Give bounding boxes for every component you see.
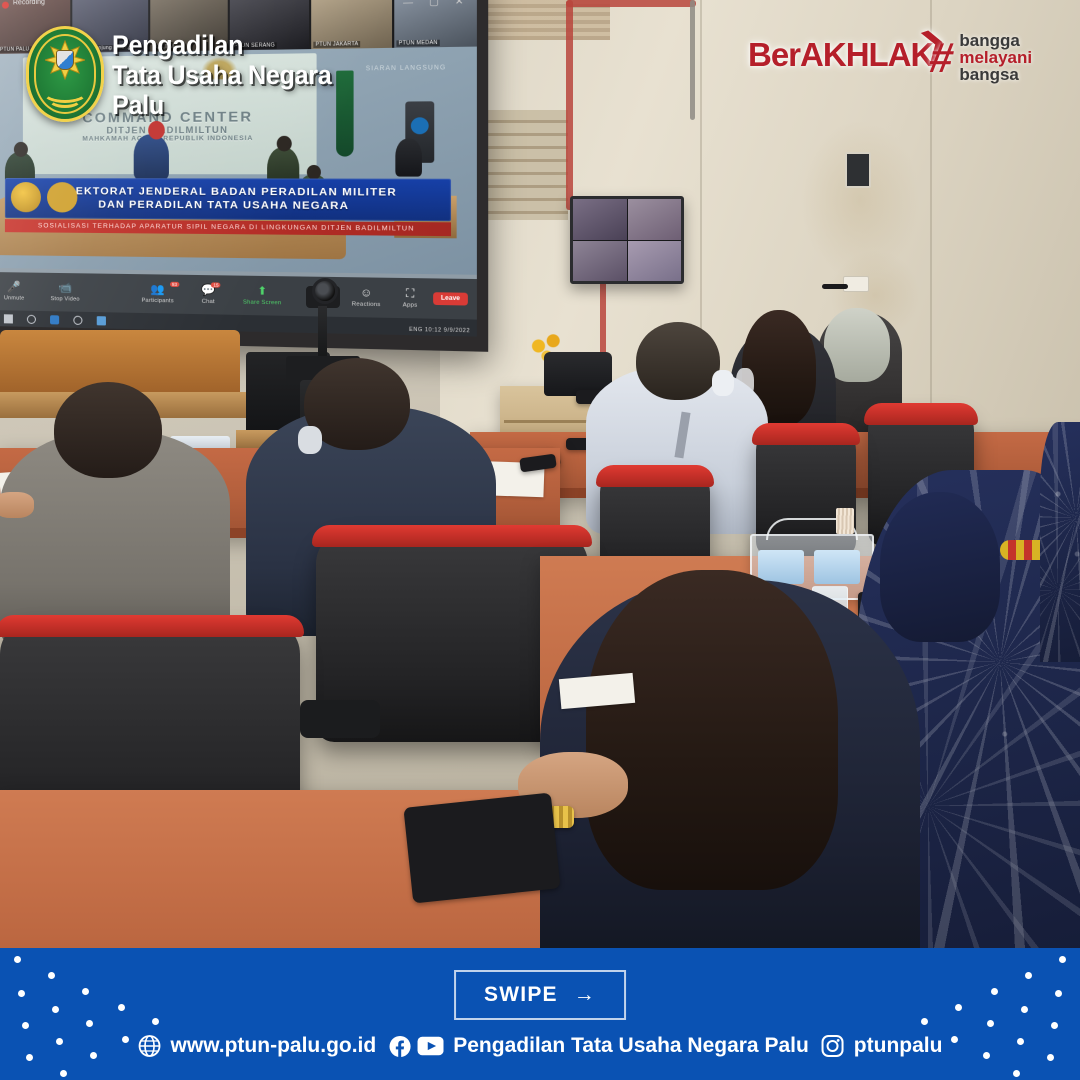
search-icon[interactable] [27,314,36,323]
zoom-thumbnail-label: PTUN MEDAN [396,40,439,47]
camera-post [318,306,327,358]
system-tray: ENG 10:12 9/9/2022 [409,327,470,335]
title-line-3: Palu [112,90,331,120]
water-cup-packed [758,550,804,584]
remote-participant [396,138,423,176]
seal-crescent-icon [48,90,82,108]
attendee-long-hair-foreground [540,580,920,948]
attendee-hand [0,492,34,518]
zoom-button-label: Apps [403,302,418,309]
participants-icon: 👥 [151,284,165,295]
instagram-link[interactable]: ptunpalu [821,1034,943,1058]
wall-conduit [690,0,695,120]
cctv-quad-monitor [570,196,684,284]
seal-shield-icon [56,50,74,70]
siaran-langsung-label: SIARAN LANGSUNG [366,65,447,72]
recording-label: Recording [13,0,45,7]
facebook-icon [388,1035,411,1058]
wall-conduit [566,0,696,7]
hashtag-icon: # [927,41,956,75]
cctv-quadrant [573,241,627,282]
event-banner: DIREKTORAT JENDERAL BADAN PERADILAN MILI… [5,178,451,221]
file-explorer-icon[interactable] [97,316,106,325]
dot-pattern-left [0,948,150,1080]
arrow-right-icon: → [574,983,596,1007]
green-flag [336,71,353,157]
social-page-link[interactable]: Pengadilan Tata Usaha Negara Palu [388,1034,809,1058]
zoom-button-label: Stop Video [51,296,80,303]
bangga-line-2: melayani [959,49,1032,66]
website-url: www.ptun-palu.go.id [171,1034,377,1058]
zoom-participants-button[interactable]: 👥 93 Participants [142,284,174,304]
zoom-reactions-button[interactable]: ☺ Reactions [352,287,381,307]
title-line-1: Pengadilan [112,30,331,60]
gear-icon[interactable] [73,315,82,324]
meeting-room-photo: PTUN PALU PTUN Tanjung Pinang KALTIM PTU… [0,0,1080,948]
zoom-unmute-button[interactable]: 🎤 Unmute [4,282,24,301]
globe-icon [138,1034,162,1058]
batik-pattern [1040,422,1080,662]
ptun-palu-court-seal [26,26,104,122]
zoom-thumbnail-label: PTUN PALU [0,46,31,53]
attendee-right-edge [1040,422,1080,662]
zoom-button-label: Participants [142,297,174,304]
berakhlak-wordmark: BerAKHLAK [748,36,933,73]
title-line-2: Tata Usaha Negara [112,60,331,90]
attendee-hair [586,570,838,890]
windows-start-icon[interactable] [4,314,13,323]
zoom-share-screen-button[interactable]: ⬆ Share Screen [243,285,281,305]
face-mask [712,370,734,396]
remote-participant-head [14,142,28,157]
cctv-quadrant [628,199,682,240]
apps-icon: ⛶ [406,288,415,300]
chair-armrest [300,700,380,738]
cc-line-3: MAHKAMAH AGUNG REPUBLIK INDONESIA [32,135,306,144]
banner-line-2: DAN PERADILAN TATA USAHA NEGARA [54,198,397,213]
cctv-quadrant [573,199,627,240]
zoom-button-label: Chat [202,298,215,304]
reactions-icon: ☺ [360,287,372,299]
banner-seal-icon [11,182,41,212]
bangga-line-1: bangga [959,32,1032,49]
cctv-quadrant [628,241,682,282]
zoom-chat-button[interactable]: 💬 15 Chat [201,285,215,305]
swipe-label: SWIPE [484,983,558,1007]
task-view-icon[interactable] [50,315,59,324]
share-screen-icon: ⬆ [257,286,267,298]
power-cable [822,284,848,289]
video-icon: 📹 [58,283,72,294]
av-wall-panel [845,152,871,188]
drinking-straws [836,508,854,534]
zoom-button-label: Share Screen [243,299,281,306]
instagram-handle: ptunpalu [854,1034,943,1058]
toolbar-spacer [80,293,142,294]
zoom-stop-video-button[interactable]: 📹 Stop Video [51,282,80,302]
footer-links: www.ptun-palu.go.id Pengadilan Tata Usah… [138,1034,943,1058]
website-link[interactable]: www.ptun-palu.go.id [138,1034,377,1058]
zoom-leave-button[interactable]: Leave [433,292,468,305]
window-controls[interactable]: — ▢ ✕ [403,0,470,9]
social-page-name: Pengadilan Tata Usaha Negara Palu [453,1034,809,1058]
zoom-button-label: Unmute [4,295,24,301]
zoom-button-label: Reactions [352,301,381,308]
bangga-melayani-bangsa-logo: # bangga melayani bangsa [930,32,1032,83]
tablet-device [403,793,560,904]
water-cup-packed [814,550,860,584]
bangga-wordmark: bangga melayani bangsa [959,32,1032,83]
mic-muted-icon: 🎤 [7,282,21,293]
instagram-icon [821,1034,845,1058]
berakhlak-logo: BerAKHLAK ❯ [748,36,933,74]
remote-participant [134,135,169,180]
swipe-button[interactable]: SWIPE → [454,970,626,1020]
chat-count-badge: 15 [211,282,221,287]
paper-sheet [559,673,635,709]
attendee-head [54,382,162,478]
footer-bar: SWIPE → www.ptun-palu.go.id [0,948,1080,1080]
attendee-head [636,322,720,400]
page-title: Pengadilan Tata Usaha Negara Palu [112,30,331,121]
youtube-icon [417,1036,443,1056]
dot-pattern-right [930,948,1080,1080]
face-mask [298,426,322,454]
wall-conduit [566,0,573,210]
zoom-apps-button[interactable]: ⛶ Apps [403,288,418,308]
bangga-line-3: bangsa [959,66,1032,83]
camera-lens [312,278,338,304]
participants-count-badge: 93 [170,281,179,286]
social-media-card: PTUN PALU PTUN Tanjung Pinang KALTIM PTU… [0,0,1080,1080]
